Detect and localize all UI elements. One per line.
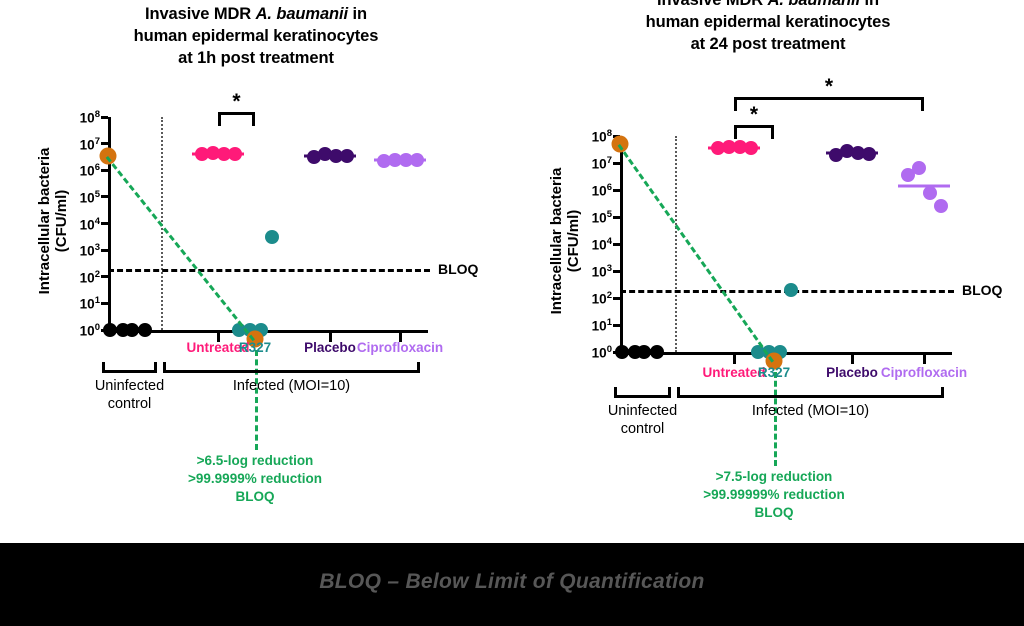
plot-area-24h: 100101102103104105106107108Intracellular… xyxy=(512,0,1024,543)
data-point xyxy=(912,161,926,175)
y-axis-tick xyxy=(101,275,108,278)
y-axis-tick xyxy=(613,297,620,300)
y-axis-tick xyxy=(101,222,108,225)
reduction-annotation: >7.5-log reduction>99.99999% reductionBL… xyxy=(703,468,844,523)
y-axis-tick xyxy=(613,162,620,165)
data-point xyxy=(615,345,629,359)
uninfected-line2: control xyxy=(621,421,665,437)
group-bracket-uninfected xyxy=(614,387,671,398)
data-point xyxy=(265,230,279,244)
data-point xyxy=(138,323,152,337)
median-line xyxy=(826,151,878,154)
reduction-line-1: >7.5-log reduction xyxy=(716,469,833,484)
bloq-threshold-label: BLOQ xyxy=(438,261,478,277)
bloq-threshold-label: BLOQ xyxy=(962,282,1002,298)
y-axis-title: Intracellular bacteria(CFU/ml) xyxy=(548,136,582,346)
significance-star: * xyxy=(825,76,833,97)
y-axis-tick xyxy=(101,249,108,252)
footer-caption: BLOQ – Below Limit of Quantification xyxy=(0,570,1024,594)
median-line xyxy=(898,184,950,187)
y-axis-tick xyxy=(613,189,620,192)
median-line xyxy=(192,152,244,155)
group-label-infected: Infected (MOI=10) xyxy=(752,403,869,421)
uninfected-line2: control xyxy=(108,396,152,412)
x-category-label-placebo: Placebo xyxy=(826,365,878,380)
median-line xyxy=(374,159,426,162)
group-label-uninfected: Uninfectedcontrol xyxy=(95,378,164,413)
significance-bracket xyxy=(218,112,255,126)
group-bracket-infected xyxy=(677,387,944,398)
group-bracket-infected xyxy=(163,362,420,373)
chart-panel-24h: Invasive MDR A. baumanii in human epider… xyxy=(512,0,1024,543)
bloq-threshold-line xyxy=(108,269,430,272)
x-axis-line xyxy=(108,330,428,333)
y-axis-title-line2: (CFU/ml) xyxy=(565,210,582,273)
figure-root: Invasive MDR A. baumanii in human epider… xyxy=(0,0,1024,626)
median-line xyxy=(708,146,760,149)
uninfected-line1: Uninfected xyxy=(95,378,164,394)
reduction-line-2: >99.9999% reduction xyxy=(188,471,322,486)
group-bracket-uninfected xyxy=(102,362,157,373)
data-point xyxy=(103,323,117,337)
chart-panel-1h: Invasive MDR A. baumanii in human epider… xyxy=(0,0,512,543)
group-label-infected: Infected (MOI=10) xyxy=(233,378,350,396)
y-axis-tick xyxy=(101,142,108,145)
significance-star: * xyxy=(750,104,758,125)
x-axis-tick xyxy=(923,355,926,364)
median-line xyxy=(304,154,356,157)
y-axis-tick xyxy=(101,195,108,198)
data-point xyxy=(125,323,139,337)
y-axis-line xyxy=(620,136,623,355)
significance-star: * xyxy=(232,91,240,112)
data-point xyxy=(784,283,798,297)
plot-area-1h: 100101102103104105106107108Intracellular… xyxy=(0,0,512,543)
y-axis-title-line1: Intracellular bacteria xyxy=(36,147,53,294)
y-axis-tick xyxy=(101,116,108,119)
x-category-label-r327: R327 xyxy=(758,365,790,380)
significance-bracket xyxy=(734,125,774,139)
reduction-line-1: >6.5-log reduction xyxy=(197,453,314,468)
y-axis-title-line2: (CFU/ml) xyxy=(53,189,70,252)
x-category-label-ciprofloxacin: Ciprofloxacin xyxy=(881,365,967,380)
y-axis-tick xyxy=(613,216,620,219)
y-axis-tick-label: 100 xyxy=(572,344,612,361)
data-point xyxy=(650,345,664,359)
y-axis-title: Intracellular bacteria(CFU/ml) xyxy=(36,116,70,326)
x-category-label-placebo: Placebo xyxy=(304,340,356,355)
y-axis-tick xyxy=(613,324,620,327)
y-axis-tick xyxy=(613,243,620,246)
x-category-label-untreated: Untreated xyxy=(702,365,765,380)
reduction-annotation: >6.5-log reduction>99.9999% reductionBLO… xyxy=(188,452,322,507)
x-category-label-ciprofloxacin: Ciprofloxacin xyxy=(357,340,443,355)
uninfected-line1: Uninfected xyxy=(608,403,677,419)
reduction-line-2: >99.99999% reduction xyxy=(703,487,844,502)
x-axis-tick xyxy=(851,355,854,364)
x-axis-tick xyxy=(733,355,736,364)
y-axis-tick xyxy=(101,302,108,305)
data-point xyxy=(923,186,937,200)
x-category-label-r327: R327 xyxy=(239,340,271,355)
reduction-arrow xyxy=(618,144,774,363)
significance-bracket xyxy=(734,97,924,111)
y-axis-title-line1: Intracellular bacteria xyxy=(548,168,565,315)
y-axis-tick xyxy=(101,169,108,172)
reduction-line-3: BLOQ xyxy=(754,505,793,520)
group-label-uninfected: Uninfectedcontrol xyxy=(608,403,677,438)
group-divider xyxy=(675,136,677,352)
data-point xyxy=(637,345,651,359)
y-axis-tick xyxy=(613,270,620,273)
reduction-arrow xyxy=(106,156,255,341)
reduction-line-3: BLOQ xyxy=(235,489,274,504)
data-point xyxy=(934,199,948,213)
